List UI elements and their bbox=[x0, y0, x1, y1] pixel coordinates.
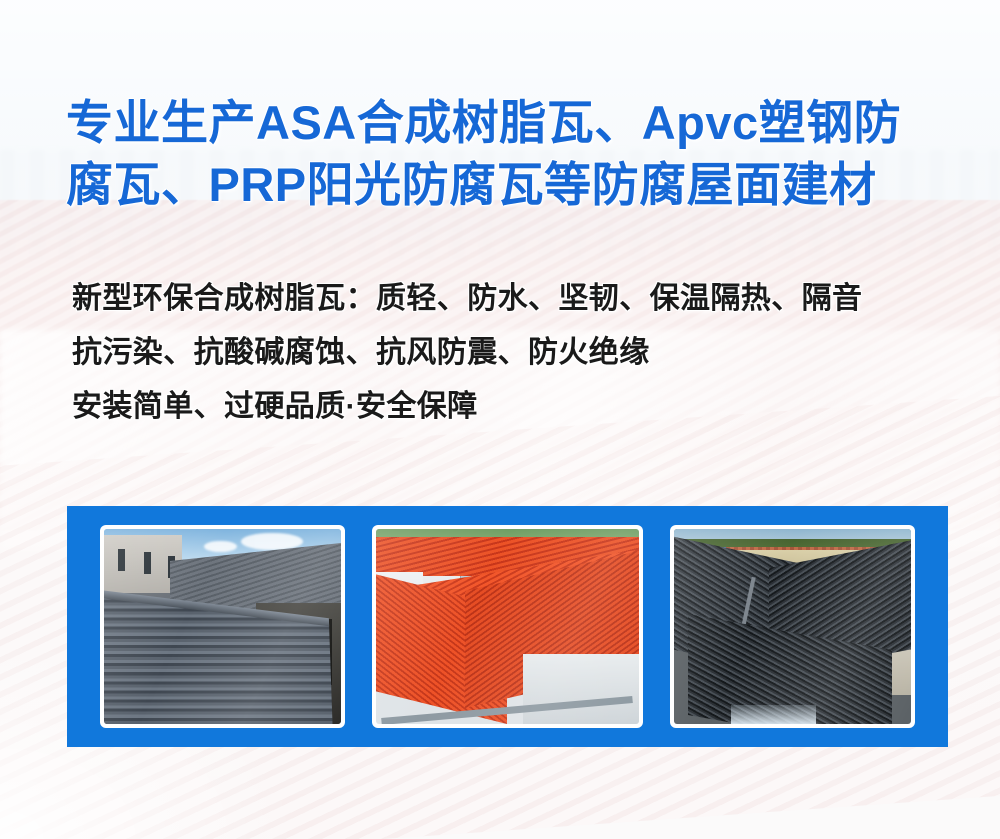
photo-frame-2[interactable] bbox=[372, 525, 643, 728]
photo-dark-resin-roof bbox=[674, 529, 911, 724]
photo-gallery-panel bbox=[67, 506, 948, 747]
photo-frame-3[interactable] bbox=[670, 525, 915, 728]
feature-list: 新型环保合成树脂瓦：质轻、防水、坚韧、保温隔热、隔音 抗污染、抗酸碱腐蚀、抗风防… bbox=[72, 272, 962, 434]
photo1-window-b bbox=[144, 552, 151, 574]
feature-line-3: 安装简单、过硬品质·安全保障 bbox=[72, 380, 962, 434]
photo-frame-1[interactable] bbox=[100, 525, 345, 728]
photo-red-resin-roof bbox=[376, 529, 639, 724]
feature-line-1: 新型环保合成树脂瓦：质轻、防水、坚韧、保温隔热、隔音 bbox=[72, 272, 962, 326]
feature-line-2: 抗污染、抗酸碱腐蚀、抗风防震、防火绝缘 bbox=[72, 326, 962, 380]
page-title: 专业生产ASA合成树脂瓦、Apvc塑钢防 腐瓦、PRP阳光防腐瓦等防腐屋面建材 bbox=[66, 92, 946, 216]
photo2-lower-building bbox=[523, 654, 639, 724]
photo1-window-a bbox=[118, 549, 125, 571]
photo3-highlight bbox=[731, 705, 816, 725]
product-banner: 专业生产ASA合成树脂瓦、Apvc塑钢防 腐瓦、PRP阳光防腐瓦等防腐屋面建材 … bbox=[0, 0, 1000, 839]
photo1-cloud-b bbox=[204, 541, 237, 553]
photo-grey-resin-roof bbox=[104, 529, 341, 724]
